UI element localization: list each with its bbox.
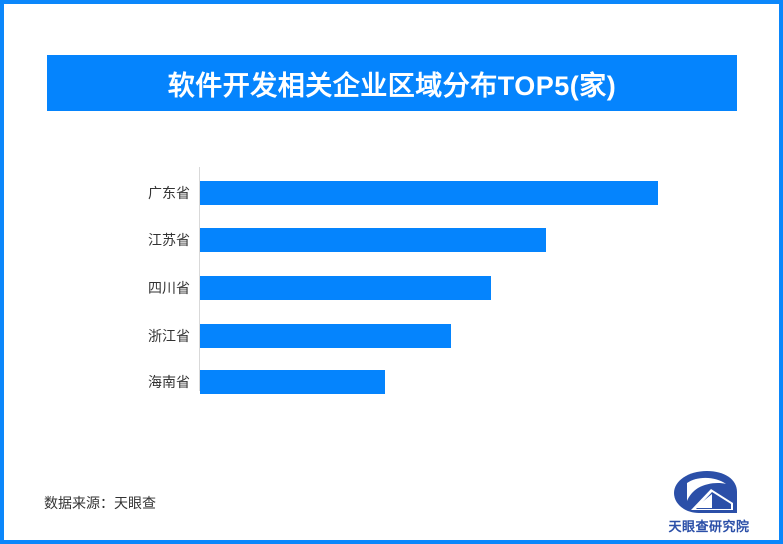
bar-value-浙江省 [200, 324, 451, 348]
bar-category-label: 海南省 [64, 370, 190, 394]
infographic-card: 软件开发相关企业区域分布TOP5(家) 广东省 江苏省 四川省 浙江省 海南省 … [0, 0, 783, 544]
brand-logo: 天眼查研究院 [659, 470, 759, 536]
bar-row: 海南省 [4, 370, 783, 394]
bar-category-label: 四川省 [64, 276, 190, 300]
bar-category-label: 广东省 [64, 181, 190, 205]
bar-row: 广东省 [4, 181, 783, 205]
page-title: 软件开发相关企业区域分布TOP5(家) [168, 64, 617, 103]
bar-category-label: 浙江省 [64, 324, 190, 348]
bar-value-四川省 [200, 276, 491, 300]
bar-value-江苏省 [200, 228, 546, 252]
tianyancha-eye-mountain-logo-icon [671, 470, 743, 514]
bar-value-广东省 [200, 181, 658, 205]
bar-row: 四川省 [4, 276, 783, 300]
bar-chart: 广东省 江苏省 四川省 浙江省 海南省 [4, 154, 783, 404]
data-source-label: 数据来源：天眼查 [44, 493, 156, 513]
title-banner: 软件开发相关企业区域分布TOP5(家) [47, 55, 737, 111]
bar-value-海南省 [200, 370, 385, 394]
brand-logo-caption: 天眼查研究院 [659, 516, 759, 535]
bar-row: 江苏省 [4, 228, 783, 252]
bar-row: 浙江省 [4, 324, 783, 348]
bar-category-label: 江苏省 [64, 228, 190, 252]
